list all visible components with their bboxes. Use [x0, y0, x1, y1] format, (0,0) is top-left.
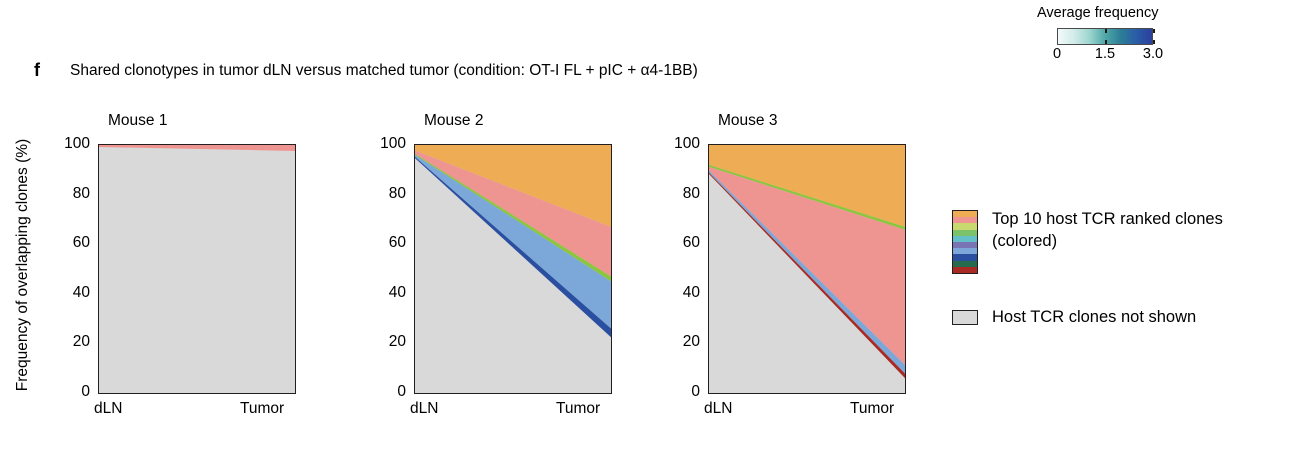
y-tick-label: 0	[658, 383, 700, 401]
colorbar-tick-1	[1105, 29, 1107, 33]
y-tick-label: 20	[48, 333, 90, 351]
legend-label-top10-line1: Top 10 host TCR ranked clones	[992, 208, 1223, 230]
figure-panel-f: Average frequency 01.53.0 f Shared clono…	[0, 0, 1300, 456]
colorbar-tick-label-2: 3.0	[1143, 46, 1163, 62]
panel-letter: f	[34, 60, 40, 81]
y-tick-label: 100	[364, 135, 406, 153]
y-tick-label: 60	[658, 234, 700, 252]
y-tick-label: 80	[658, 185, 700, 203]
colorbar-tick-labels: 01.53.0	[1057, 46, 1153, 64]
plot-area	[414, 144, 612, 394]
y-tick-label: 60	[48, 234, 90, 252]
band-host-not-shown	[99, 145, 295, 393]
legend-label-notshown: Host TCR clones not shown	[992, 306, 1196, 328]
y-axis-label: Frequency of overlapping clones (%)	[14, 130, 38, 400]
plot-title: Mouse 2	[424, 112, 483, 130]
stacked-area-svg	[99, 145, 295, 393]
plot-area	[98, 144, 296, 394]
colorbar-title: Average frequency	[1035, 4, 1245, 22]
figure-title: Shared clonotypes in tumor dLN versus ma…	[70, 62, 698, 80]
colorbar-bar	[1057, 28, 1153, 45]
y-tick-label: 0	[364, 383, 406, 401]
x-tick-label-tumor: Tumor	[556, 400, 600, 418]
colorbar-tick-2	[1153, 40, 1155, 44]
x-tick-label-tumor: Tumor	[240, 400, 284, 418]
x-tick-label-dln: dLN	[410, 400, 438, 418]
y-tick-label: 40	[364, 284, 406, 302]
legend-swatch-multicolor	[952, 210, 978, 274]
y-tick-label: 80	[364, 185, 406, 203]
colorbar-tick-label-0: 0	[1053, 46, 1061, 62]
legend-swatch-color-9	[953, 267, 977, 273]
y-tick-label: 100	[658, 135, 700, 153]
colorbar-tick-2	[1153, 29, 1155, 33]
x-tick-label-dln: dLN	[704, 400, 732, 418]
stacked-area-svg	[709, 145, 905, 393]
plot-title: Mouse 1	[108, 112, 167, 130]
y-tick-label: 20	[658, 333, 700, 351]
plot-area	[708, 144, 906, 394]
y-tick-label: 20	[364, 333, 406, 351]
x-tick-label-tumor: Tumor	[850, 400, 894, 418]
colorbar-tick-label-1: 1.5	[1095, 46, 1115, 62]
legend-swatch-gray	[952, 310, 978, 325]
y-tick-label: 40	[658, 284, 700, 302]
colorbar-tick-1	[1105, 40, 1107, 44]
x-tick-label-dln: dLN	[94, 400, 122, 418]
y-tick-label: 100	[48, 135, 90, 153]
legend-label-top10-line2: (colored)	[992, 230, 1057, 252]
plot-title: Mouse 3	[718, 112, 777, 130]
y-tick-label: 40	[48, 284, 90, 302]
y-tick-label: 0	[48, 383, 90, 401]
y-tick-label: 80	[48, 185, 90, 203]
y-tick-label: 60	[364, 234, 406, 252]
stacked-area-svg	[415, 145, 611, 393]
colorbar-legend: Average frequency 01.53.0	[1035, 4, 1245, 64]
